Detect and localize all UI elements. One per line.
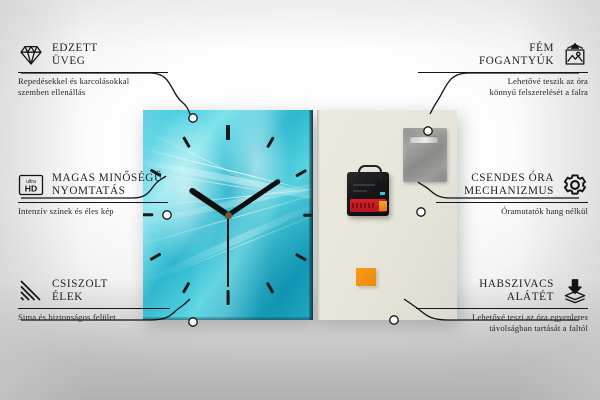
callout-csendes-ora-mechanizmus[interactable]: CSENDES ÓRA MECHANIZMUS Óramutatók hang … [436, 172, 588, 217]
callout-divider [18, 308, 170, 309]
callout-header: CSISZOLT ÉLEK [18, 278, 170, 304]
callout-magas-minosegu-nyomtatas[interactable]: ultra HD MAGAS MINŐSÉGŰ NYOMTATÁS Intenz… [18, 172, 168, 217]
hanger-slot [410, 136, 438, 143]
callout-description: Intenzív színek és éles kép [18, 206, 168, 217]
callout-description: Repedésekkel és karcolásokkal szemben el… [18, 76, 168, 98]
callout-description: Sima és biztonságos felület [18, 312, 170, 323]
clock-second-hand [227, 215, 229, 287]
callout-header: HABSZIVACS ALÁTÉT [416, 278, 588, 304]
callout-description-line1: Lehetővé teszik az óra [508, 76, 588, 86]
movement-indicator [380, 192, 385, 195]
callout-title-line1: CSISZOLT [52, 278, 108, 290]
callout-description-line1: Repedésekkel és karcolásokkal [18, 76, 129, 86]
battery-terminal [379, 201, 387, 211]
callout-divider [418, 72, 588, 73]
back-panel-edge [317, 110, 320, 320]
svg-text:HD: HD [25, 184, 37, 194]
callout-title-line1: EDZETT [52, 42, 98, 54]
picture-hanger-icon [562, 42, 588, 68]
callout-description-line1: Lehetővé teszi az óra egyenletes [472, 312, 588, 322]
callout-title-line2: ALÁTÉT [479, 291, 554, 304]
callout-title: MAGAS MINŐSÉGŰ NYOMTATÁS [52, 172, 163, 198]
callout-divider [18, 72, 168, 73]
clock-center-pin [225, 212, 232, 219]
foam-pad-arrow-icon [562, 278, 588, 304]
callout-csiszolt-elek[interactable]: CSISZOLT ÉLEK Sima és biztonságos felüle… [18, 278, 170, 323]
clock-minute-hand [227, 178, 281, 217]
callout-divider [416, 308, 588, 309]
callout-description: Lehetővé teszi az óra egyenletes távolsá… [416, 312, 588, 334]
callout-title: EDZETT ÜVEG [52, 42, 98, 68]
callout-description-line1: Intenzív színek és éles kép [18, 206, 114, 216]
quartz-clock-movement [347, 172, 389, 216]
product-image [143, 110, 457, 320]
callout-description-line1: Sima és biztonságos felület [18, 312, 116, 322]
callout-title-line1: FÉM [529, 42, 554, 54]
movement-detail-line-2 [353, 190, 367, 192]
callout-description: Lehetővé teszik az óra könnyű felszerelé… [418, 76, 588, 98]
callout-title-line1: MAGAS MINŐSÉGŰ [52, 172, 163, 184]
callout-description-line2: távolságban tartását a faltól [489, 323, 588, 333]
movement-hanging-loop [358, 165, 382, 179]
foam-spacer-pad [356, 268, 376, 286]
callout-description: Óramutatók hang nélkül [436, 206, 588, 217]
callout-description-line1: Óramutatók hang nélkül [501, 206, 588, 216]
callout-header: ultra HD MAGAS MINŐSÉGŰ NYOMTATÁS [18, 172, 168, 198]
callout-divider [18, 202, 168, 203]
callout-title-line2: FOGANTYÚK [479, 55, 554, 68]
callout-description-line2: szemben ellenállás [18, 87, 85, 97]
callout-title-line2: ÜVEG [52, 55, 98, 68]
callout-header: CSENDES ÓRA MECHANIZMUS [436, 172, 588, 198]
callout-title: CSENDES ÓRA MECHANIZMUS [464, 172, 554, 198]
glass-edge-right [309, 110, 313, 320]
callout-title-line1: CSENDES ÓRA [471, 172, 554, 184]
callout-title: HABSZIVACS ALÁTÉT [479, 278, 554, 304]
infographic-stage: EDZETT ÜVEG Repedésekkel és karcolásokka… [0, 0, 600, 400]
callout-description-line2: könnyű felszerelését a falra [490, 87, 588, 97]
callout-title-line2: ÉLEK [52, 291, 108, 304]
callout-title-line1: HABSZIVACS [479, 278, 554, 290]
callout-title-line2: NYOMTATÁS [52, 185, 163, 198]
callout-habszivacs-alatet[interactable]: HABSZIVACS ALÁTÉT Lehetővé teszi az óra … [416, 278, 588, 334]
callout-header: FÉM FOGANTYÚK [418, 42, 588, 68]
gear-icon [562, 172, 588, 198]
callout-title: CSISZOLT ÉLEK [52, 278, 108, 304]
callout-header: EDZETT ÜVEG [18, 42, 168, 68]
callout-title-line2: MECHANIZMUS [464, 185, 554, 198]
ultra-hd-icon: ultra HD [18, 172, 44, 198]
callout-divider [436, 202, 588, 203]
movement-detail-line [353, 184, 375, 186]
beveled-edges-icon [18, 278, 44, 304]
diamond-icon [18, 42, 44, 68]
callout-edzett-uveg[interactable]: EDZETT ÜVEG Repedésekkel és karcolásokka… [18, 42, 168, 98]
callout-fem-fogantyuk[interactable]: FÉM FOGANTYÚK Lehetővé teszik az óra kön… [418, 42, 588, 98]
callout-title: FÉM FOGANTYÚK [479, 42, 554, 68]
